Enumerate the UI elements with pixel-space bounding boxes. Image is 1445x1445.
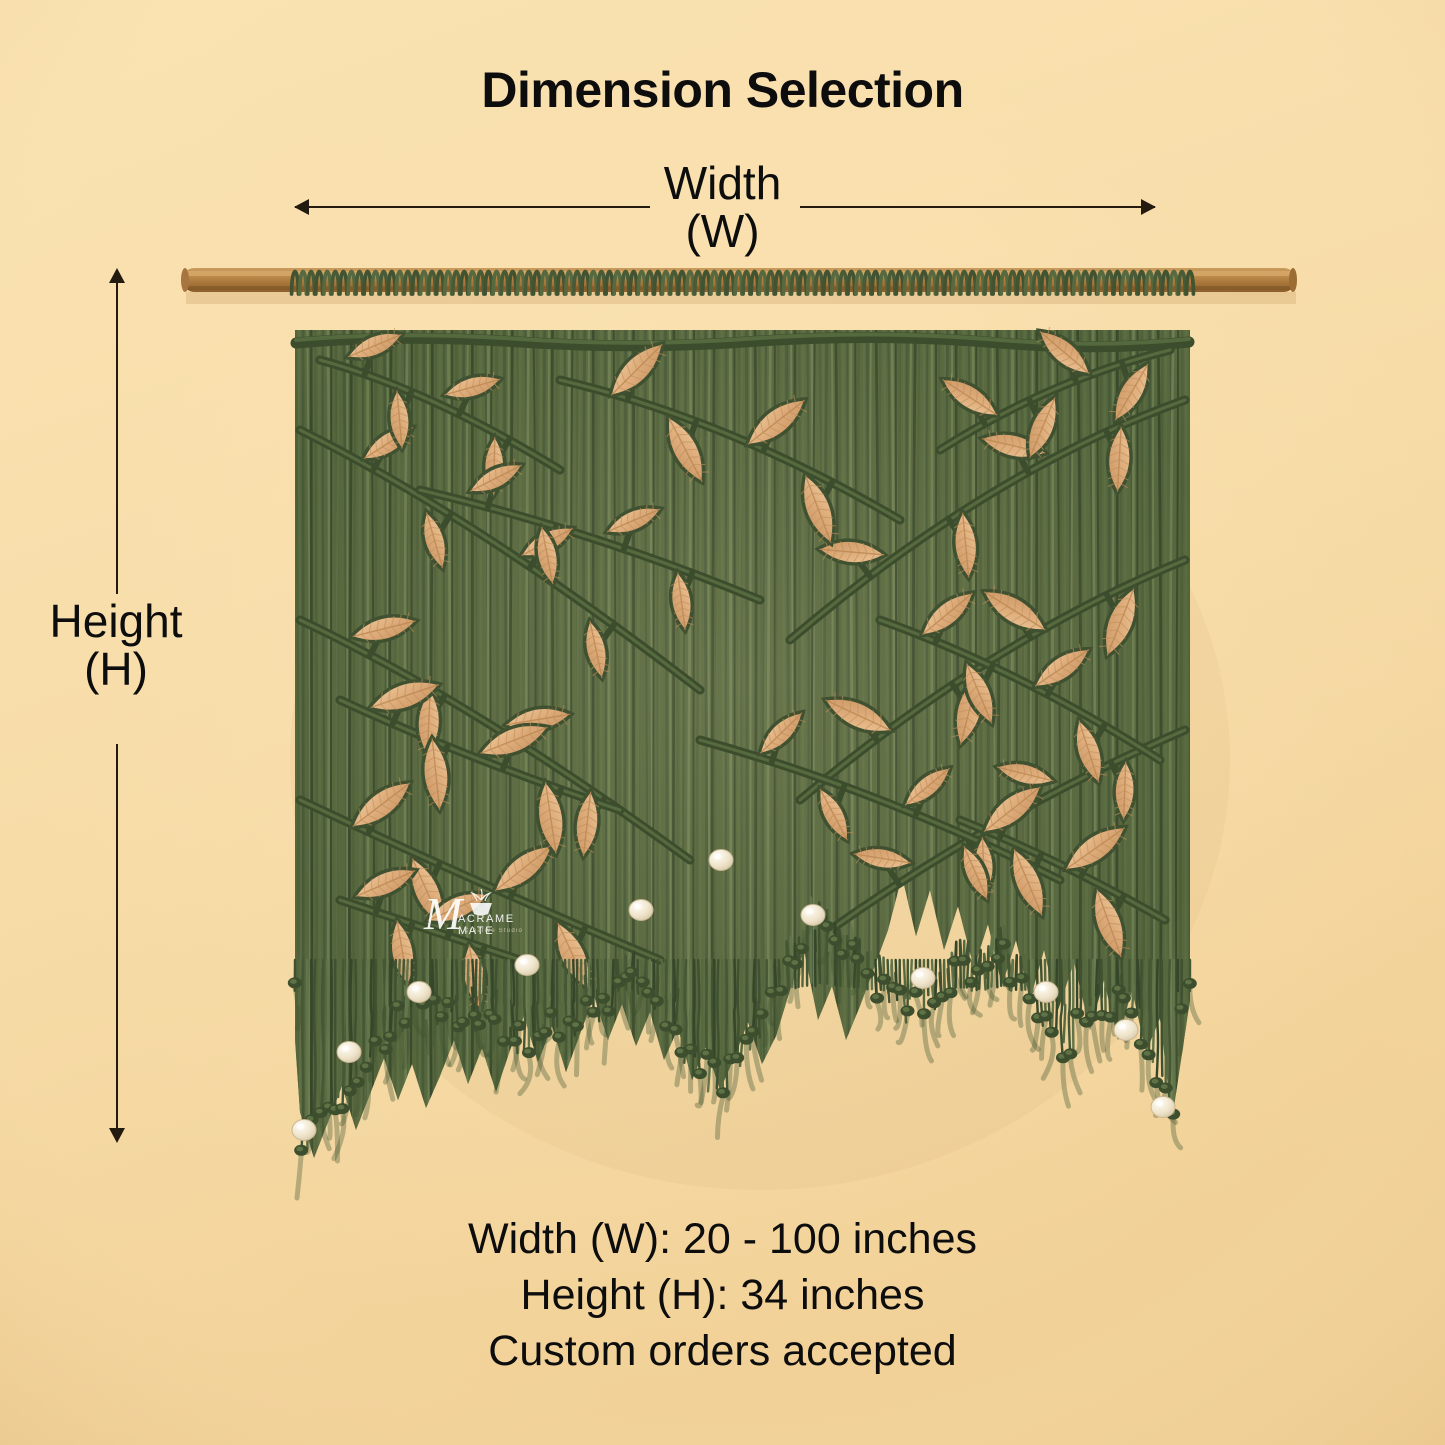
width-arrow-right-icon: [1141, 199, 1156, 215]
height-dimension-line-bottom: [116, 744, 118, 1138]
height-label-line2: (H): [16, 646, 216, 694]
spec-custom: Custom orders accepted: [0, 1324, 1445, 1380]
width-label-line2: (W): [598, 208, 848, 256]
height-label-line1: Height: [16, 598, 216, 646]
spec-list: Width (W): 20 - 100 inches Height (H): 3…: [0, 1212, 1445, 1380]
height-dimension-line-top: [116, 282, 118, 594]
spec-height: Height (H): 34 inches: [0, 1268, 1445, 1324]
height-dimension-label: Height (H): [16, 598, 216, 694]
height-arrow-up-icon: [109, 268, 125, 283]
page-title: Dimension Selection: [0, 64, 1445, 117]
width-label-line1: Width: [598, 160, 848, 208]
spec-width: Width (W): 20 - 100 inches: [0, 1212, 1445, 1268]
width-dimension-label: Width (W): [598, 160, 848, 256]
width-dimension-line-right: [800, 206, 1155, 208]
width-arrow-left-icon: [294, 199, 309, 215]
dimension-selection-graphic: Dimension Selection Width (W) Height (H)…: [0, 0, 1445, 1445]
height-arrow-down-icon: [109, 1128, 125, 1143]
